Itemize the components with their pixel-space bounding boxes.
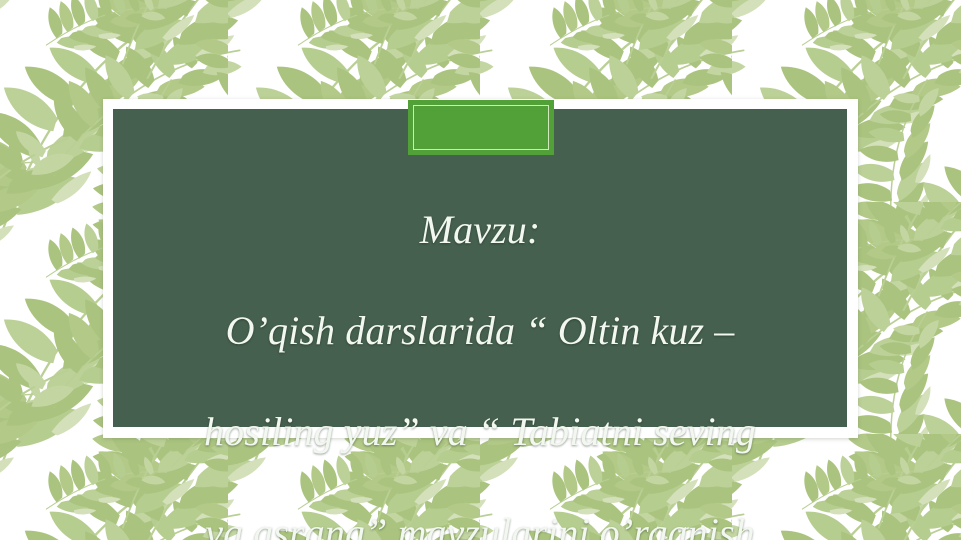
title-line-2: O’qish darslarida “ Oltin kuz –	[113, 306, 847, 356]
title-line-1: Mavzu:	[113, 205, 847, 255]
title-line-3: hosiling yuz” va “ Tabiatni seving	[113, 407, 847, 457]
presentation-slide: Mavzu: O’qish darslarida “ Oltin kuz – h…	[0, 0, 961, 540]
slide-title: Mavzu: O’qish darslarida “ Oltin kuz – h…	[113, 155, 847, 540]
title-line-4: va asrang” mavzularini o’rganish	[113, 508, 847, 540]
green-accent-bar	[408, 100, 554, 155]
